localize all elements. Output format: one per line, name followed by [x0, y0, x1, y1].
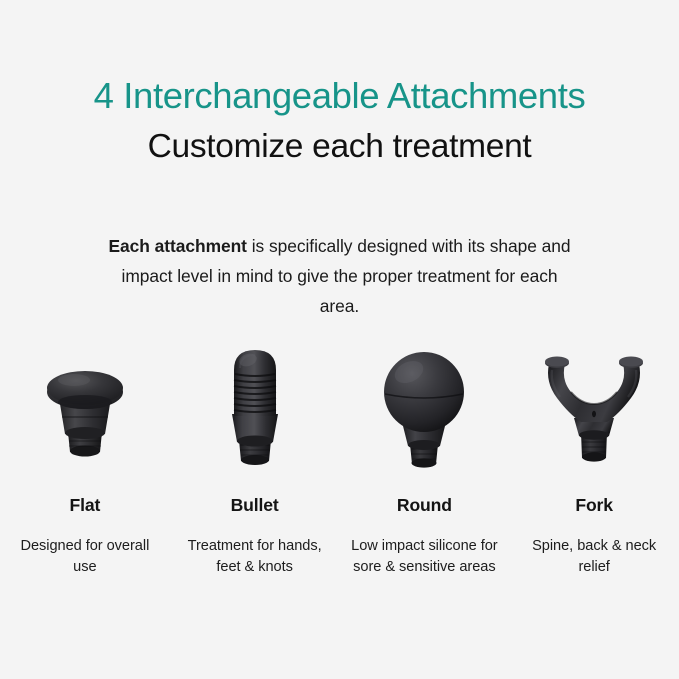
attachment-card-round[interactable]: Round Low impact silicone for sore & sen… [340, 344, 510, 577]
attachment-label-flat: Flat [70, 494, 101, 516]
page-title: 4 Interchangeable Attachments [0, 74, 679, 118]
attachment-card-bullet[interactable]: Bullet Treatment for hands, feet & knots [170, 344, 340, 577]
flat-attachment-icon [10, 344, 160, 474]
attachments-infographic: 4 Interchangeable Attachments Customize … [0, 0, 679, 679]
attachment-description-bullet: Treatment for hands, feet & knots [180, 536, 330, 577]
attachment-label-bullet: Bullet [231, 494, 279, 516]
headline-block: 4 Interchangeable Attachments Customize … [0, 74, 679, 167]
attachment-card-flat[interactable]: Flat Designed for overall use [0, 344, 170, 577]
fork-attachment-icon [519, 344, 669, 474]
bullet-attachment-icon [180, 344, 330, 474]
attachment-label-round: Round [397, 494, 452, 516]
page-subtitle: Customize each treatment [0, 127, 679, 167]
attachments-grid: Flat Designed for overall use [0, 344, 679, 577]
intro-bold-lead: Each attachment [109, 236, 247, 256]
attachment-description-round: Low impact silicone for sore & sensitive… [349, 536, 499, 577]
intro-paragraph: Each attachment is specifically designed… [105, 231, 575, 321]
round-attachment-icon [349, 344, 499, 474]
attachment-description-fork: Spine, back & neck relief [519, 536, 669, 577]
attachment-description-flat: Designed for overall use [10, 536, 160, 577]
attachment-card-fork[interactable]: Fork Spine, back & neck relief [509, 344, 679, 577]
attachment-label-fork: Fork [575, 494, 613, 516]
